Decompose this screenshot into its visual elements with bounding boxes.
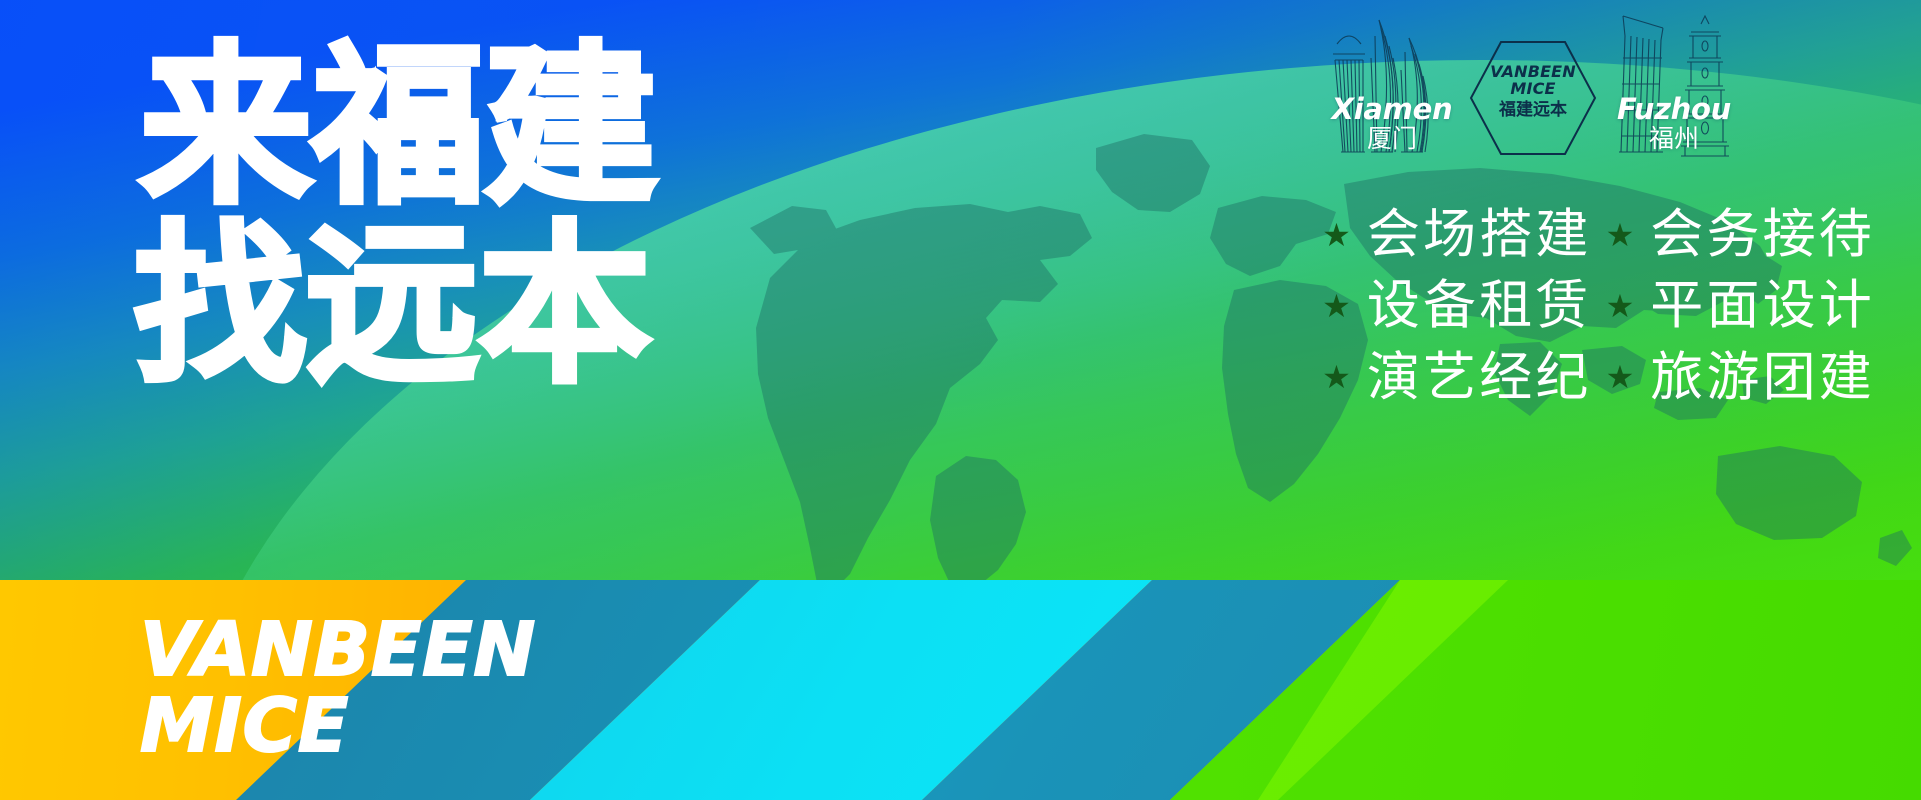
star-icon: ★ — [1322, 219, 1351, 251]
star-icon: ★ — [1322, 361, 1351, 393]
city-fuzhou-labels: Fuzhou 福州 — [1605, 95, 1743, 154]
service-item: ★ 旅游团建 — [1606, 348, 1875, 407]
city-xiamen: Xiamen 厦门 — [1323, 6, 1461, 166]
service-label: 旅游团建 — [1650, 348, 1875, 407]
service-item: ★ 平面设计 — [1606, 276, 1875, 335]
service-label: 会场搭建 — [1367, 205, 1592, 264]
promotional-banner: 来福建 找远本 — [0, 0, 1921, 800]
bottom-brand-line-2: MICE — [140, 692, 536, 762]
service-label: 会务接待 — [1650, 205, 1875, 264]
service-item: ★ 演艺经纪 — [1322, 348, 1591, 407]
services-row: ★ 会场搭建 ★ 会务接待 — [1322, 205, 1875, 264]
service-item: ★ 会场搭建 — [1322, 205, 1591, 264]
bottom-brand-bar: VANBEEN MICE — [0, 580, 1921, 800]
hero-section: 来福建 找远本 — [0, 0, 1921, 580]
star-icon: ★ — [1606, 290, 1635, 322]
services-row: ★ 设备租赁 ★ 平面设计 — [1322, 276, 1875, 335]
star-icon: ★ — [1606, 219, 1635, 251]
headline-line-2: 找远本 — [134, 223, 657, 388]
service-label: 演艺经纪 — [1367, 348, 1592, 407]
star-icon: ★ — [1606, 361, 1635, 393]
bottom-brand-line-1: VANBEEN — [140, 616, 536, 686]
hexagon-brand-line-2: MICE — [1467, 81, 1599, 98]
services-row: ★ 演艺经纪 ★ 旅游团建 — [1322, 348, 1875, 407]
city-fuzhou-name-en: Fuzhou — [1605, 95, 1743, 124]
city-xiamen-name-cn: 厦门 — [1323, 125, 1461, 154]
city-fuzhou: Fuzhou 福州 — [1605, 6, 1743, 166]
service-label: 平面设计 — [1650, 276, 1875, 335]
hexagon-logo-text: VANBEEN MICE 福建远本 — [1467, 64, 1599, 121]
hexagon-brand-cn: 福建远本 — [1467, 99, 1599, 121]
service-item: ★ 设备租赁 — [1322, 276, 1591, 335]
headline: 来福建 找远本 — [140, 44, 657, 388]
service-item: ★ 会务接待 — [1606, 205, 1875, 264]
city-logo-strip: Xiamen 厦门 VANBEEN MICE 福建远本 — [1323, 6, 1743, 166]
service-label: 设备租赁 — [1367, 276, 1592, 335]
headline-line-1: 来福建 — [140, 44, 657, 209]
star-icon: ★ — [1322, 290, 1351, 322]
vanbeen-hexagon-logo: VANBEEN MICE 福建远本 — [1467, 34, 1599, 162]
city-xiamen-labels: Xiamen 厦门 — [1323, 95, 1461, 154]
city-xiamen-name-en: Xiamen — [1323, 95, 1461, 124]
bottom-brand-wordmark: VANBEEN MICE — [140, 616, 536, 761]
city-fuzhou-name-cn: 福州 — [1605, 125, 1743, 154]
services-list: ★ 会场搭建 ★ 会务接待 ★ 设备租赁 ★ 平面设计 — [1322, 205, 1875, 407]
